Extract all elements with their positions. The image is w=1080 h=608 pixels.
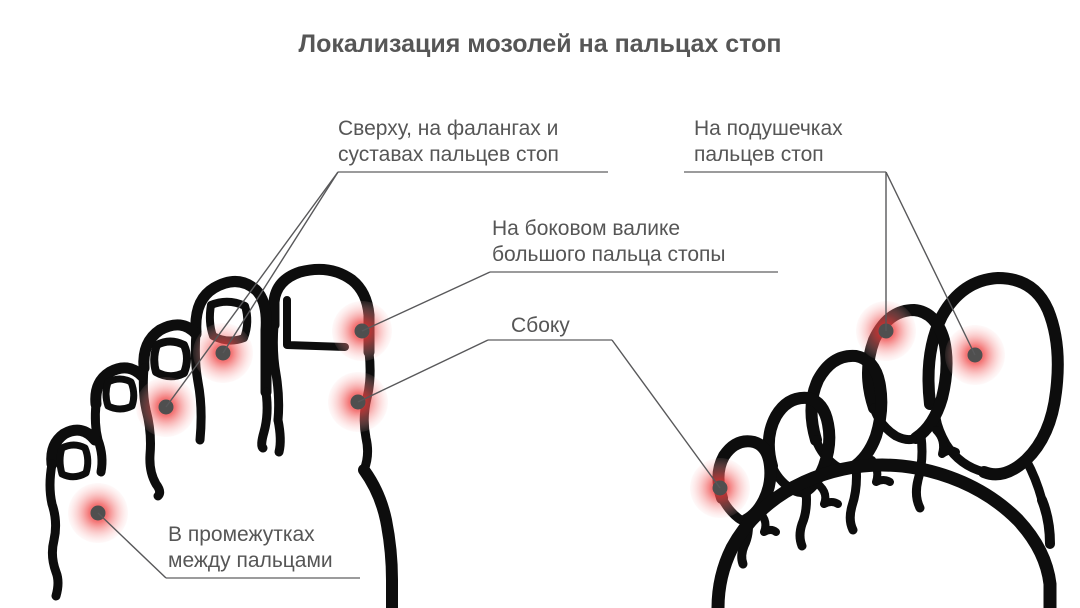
- label-toe-pads-line1: На подушечках: [694, 117, 843, 140]
- label-between-toes-line1: В промежутках: [168, 523, 315, 546]
- label-top-phalanges-line1: Сверху, на фалангах и: [338, 117, 558, 140]
- label-big-toe-side-ridge-line1: На боковом валике: [492, 217, 680, 240]
- label-side-line1: Сбоку: [511, 314, 570, 337]
- label-big-toe-side-ridge-line2: большого пальца стопы: [492, 243, 726, 266]
- background: [0, 0, 1080, 608]
- callus-location-infographic: Локализация мозолей на пальцах стоп: [0, 0, 1080, 608]
- label-between-toes-line2: между пальцами: [168, 549, 333, 572]
- page-title: Локализация мозолей на пальцах стоп: [299, 30, 782, 58]
- label-side: Сбоку: [511, 314, 570, 337]
- label-top-phalanges-line2: суставах пальцев стоп: [338, 143, 559, 166]
- label-toe-pads-line2: пальцев стоп: [694, 143, 824, 166]
